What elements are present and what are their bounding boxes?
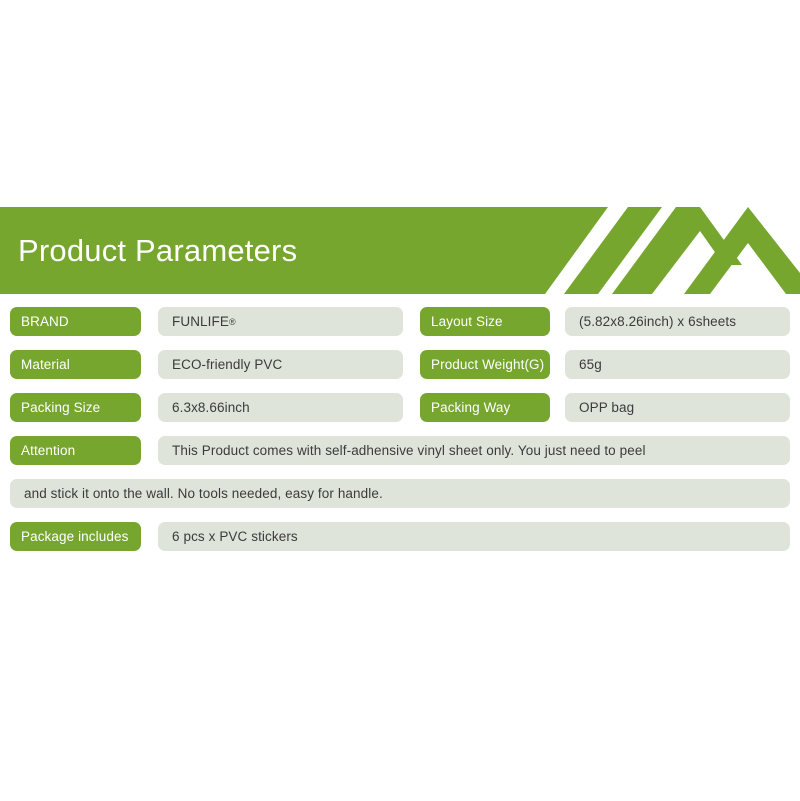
param-label-packing-size: Packing Size	[10, 393, 141, 422]
table-row-attention: Attention This Product comes with self-a…	[0, 429, 800, 472]
parameters-table: BRAND FUNLIFE® Layout Size (5.82x8.26inc…	[0, 300, 800, 558]
param-value-attention-line1: This Product comes with self-adhensive v…	[158, 436, 790, 465]
table-row: Material ECO-friendly PVC Product Weight…	[0, 343, 800, 386]
param-value-attention-line2: and stick it onto the wall. No tools nee…	[10, 479, 790, 508]
param-label-material: Material	[10, 350, 141, 379]
param-value-packing-way: OPP bag	[565, 393, 790, 422]
param-label-product-weight: Product Weight(G)	[420, 350, 550, 379]
param-value-packing-size: 6.3x8.66inch	[158, 393, 403, 422]
banner-solid-bar	[0, 207, 608, 294]
banner-graphic	[0, 207, 800, 294]
header-banner: Product Parameters	[0, 207, 800, 294]
brand-name: FUNLIFE	[172, 314, 229, 329]
param-label-packing-way: Packing Way	[420, 393, 550, 422]
param-label-brand: BRAND	[10, 307, 141, 336]
param-label-attention: Attention	[10, 436, 141, 465]
table-row: Packing Size 6.3x8.66inch Packing Way OP…	[0, 386, 800, 429]
param-label-package-includes: Package includes	[10, 522, 141, 551]
param-value-package-includes: 6 pcs x PVC stickers	[158, 522, 790, 551]
table-row-package: Package includes 6 pcs x PVC stickers	[0, 515, 800, 558]
param-value-material: ECO-friendly PVC	[158, 350, 403, 379]
param-value-brand: FUNLIFE®	[158, 307, 403, 336]
table-row-attention-continued: and stick it onto the wall. No tools nee…	[0, 472, 800, 515]
param-label-layout-size: Layout Size	[420, 307, 550, 336]
product-parameters-sheet: Product Parameters BRAND FUNLIFE® Layout…	[0, 0, 800, 801]
param-value-product-weight: 65g	[565, 350, 790, 379]
param-value-layout-size: (5.82x8.26inch) x 6sheets	[565, 307, 790, 336]
table-row: BRAND FUNLIFE® Layout Size (5.82x8.26inc…	[0, 300, 800, 343]
